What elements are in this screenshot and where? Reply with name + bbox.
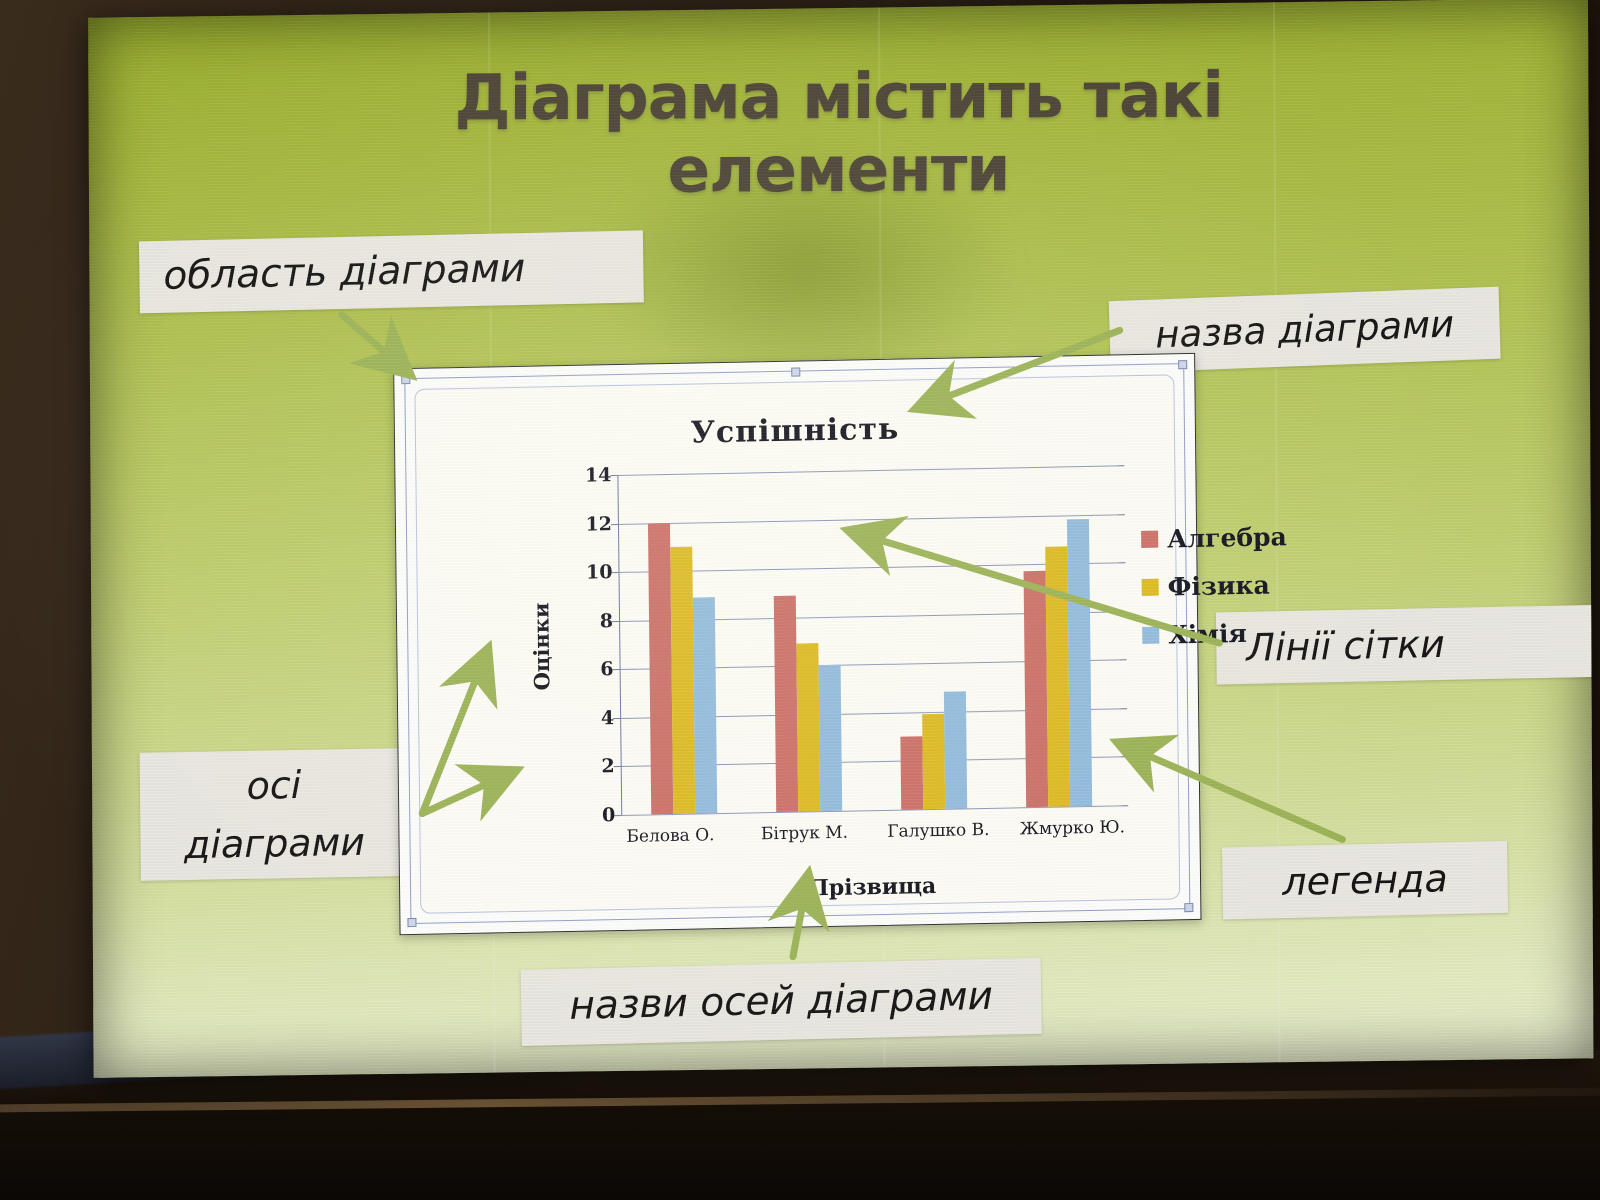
bar-fill	[900, 736, 923, 809]
legend-label: Алгебра	[1167, 522, 1287, 553]
legend-color-swatch	[1142, 579, 1159, 596]
y-axis-tick-label: 2	[601, 756, 614, 778]
bar-fill	[773, 595, 797, 812]
callout-legend: легенда	[1222, 841, 1508, 920]
bar-fill	[796, 644, 820, 812]
bar-fill	[1045, 547, 1070, 807]
y-axis-tick-label: 6	[600, 658, 613, 680]
bar-fill	[818, 665, 842, 811]
resize-handle-top-center[interactable]	[791, 367, 800, 376]
bar-group	[992, 465, 1121, 807]
y-axis-tick-right	[1121, 805, 1128, 806]
y-axis-tick	[612, 621, 619, 622]
x-axis-tick-label: Жмурко Ю.	[1005, 817, 1139, 840]
bar-group	[617, 473, 746, 815]
callout-axis-titles-label: назви осей діаграми	[521, 958, 1042, 1046]
plot-area: 02468101214 Оцінки Белова О.Бітрук М.Гал…	[617, 465, 1121, 815]
bar-group	[867, 468, 996, 810]
y-axis-title: Оцінки	[528, 602, 554, 690]
y-axis-tick-label: 8	[600, 610, 613, 632]
y-axis-tick-label: 12	[585, 513, 612, 536]
y-axis-tick-right	[1117, 465, 1124, 466]
legend-item[interactable]: Алгебра	[1141, 522, 1321, 554]
x-axis-tick-label: Бітрук М.	[737, 822, 871, 845]
page-title: Діаграма містить такі елементи	[273, 58, 1404, 208]
legend-item[interactable]: Фізика	[1142, 570, 1322, 602]
legend-color-swatch	[1141, 531, 1158, 548]
resize-handle-top-right[interactable]	[1178, 360, 1187, 369]
callout-chart-area: область діаграми	[139, 230, 644, 313]
y-axis-tick-label: 4	[601, 707, 614, 729]
x-axis-tick-label: Галушко В.	[871, 820, 1005, 843]
y-axis-tick	[611, 524, 618, 525]
chart-legend: АлгебраФізикаХімія	[1141, 522, 1323, 669]
bar-fill	[692, 597, 716, 814]
callout-chart-area-label: область діаграми	[163, 230, 644, 312]
projected-slide-photo: Діаграма містить такі елементи область д…	[0, 0, 1600, 1200]
legend-label: Фізика	[1168, 571, 1270, 602]
bar-fill	[922, 714, 945, 809]
callout-legend-label: легенда	[1222, 841, 1508, 920]
legend-label: Хімія	[1168, 619, 1247, 650]
y-axis-tick-right	[1118, 562, 1125, 563]
y-axis-tick	[614, 815, 621, 816]
y-axis-tick	[610, 475, 617, 476]
y-axis-tick	[612, 572, 619, 573]
presentation-slide: Діаграма містить такі елементи область д…	[88, 0, 1593, 1078]
resize-handle-bottom-left[interactable]	[407, 918, 416, 927]
y-axis-tick-label: 14	[585, 464, 612, 487]
callout-axes-label-line2: діаграми	[140, 812, 409, 875]
callout-axis-titles: назви осей діаграми	[521, 958, 1042, 1046]
y-axis-tick	[614, 766, 621, 767]
y-axis-tick-label: 10	[586, 561, 613, 584]
resize-handle-top-left[interactable]	[401, 375, 410, 384]
y-axis-tick-right	[1119, 611, 1126, 612]
bar-fill	[1066, 519, 1091, 806]
bar-fill	[1023, 571, 1048, 807]
bar-fill	[943, 692, 966, 809]
callout-axes: осі діаграми	[140, 748, 409, 881]
y-axis-tick-right	[1118, 514, 1125, 515]
bar-group	[742, 470, 871, 812]
x-axis-tick-label: Белова О.	[603, 825, 737, 848]
bar-fill	[670, 546, 695, 814]
y-axis-tick-label: 0	[602, 804, 615, 826]
y-axis-tick	[613, 669, 620, 670]
y-axis-tick-right	[1120, 708, 1127, 709]
callout-axes-label-line1: осі	[140, 754, 409, 817]
arrow-to-chart-area	[342, 314, 407, 373]
resize-handle-bottom-right[interactable]	[1184, 903, 1193, 912]
legend-color-swatch	[1142, 627, 1159, 644]
bar-groups	[617, 465, 1121, 815]
chart-object[interactable]: Успішність 02468101214 Оцінки Белова О.Б…	[393, 353, 1201, 935]
y-axis-tick	[613, 718, 620, 719]
y-axis-tick-right	[1120, 660, 1127, 661]
y-axis-tick-right	[1121, 757, 1128, 758]
legend-item[interactable]: Хімія	[1142, 618, 1322, 650]
